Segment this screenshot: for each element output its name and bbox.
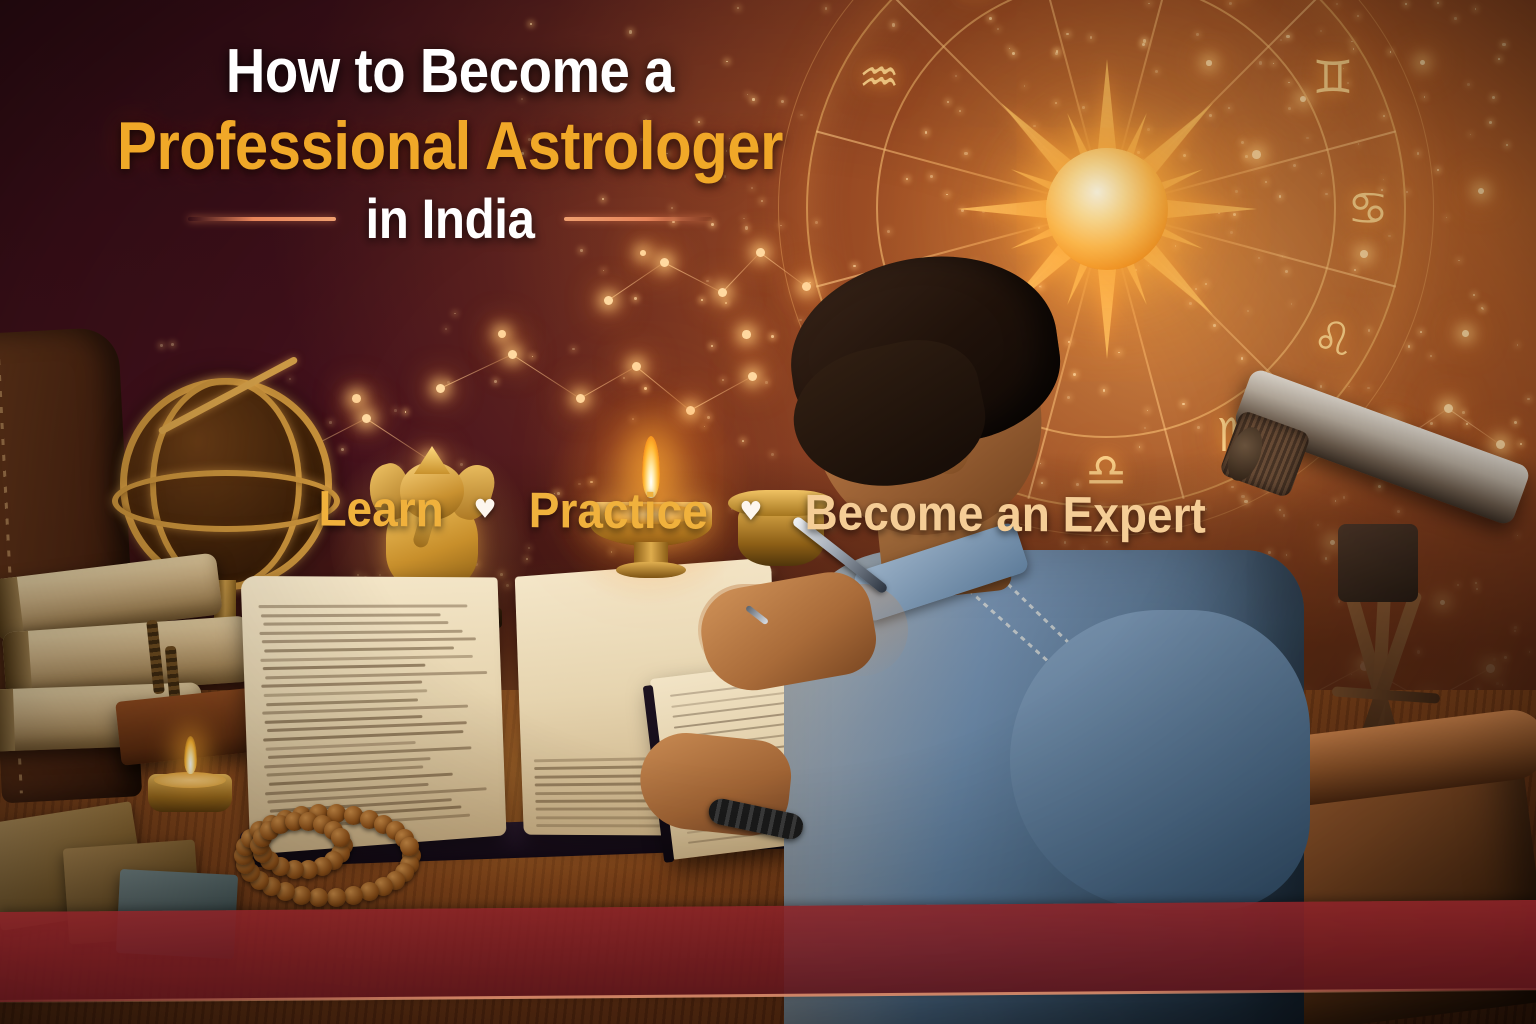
headline-line-3-row: in India <box>0 190 900 248</box>
headline-block: How to Become a Professional Astrologer … <box>0 40 900 248</box>
tagline-word-practice: Practice <box>528 481 707 540</box>
heart-separator-icon: ♥ <box>739 497 762 527</box>
poster-canvas: ♈♉♊♋♌♍♎♏♐♒♓ <box>0 0 1536 1024</box>
headline-line-1: How to Become a <box>54 40 846 104</box>
heart-separator-icon: ♥ <box>473 495 496 525</box>
headline-rule-right <box>564 217 712 221</box>
tagline-word-learn: Learn <box>319 479 444 538</box>
headline-rule-left <box>188 217 336 221</box>
tagline-banner <box>0 900 1536 1002</box>
headline-line-2: Professional Astrologer <box>54 110 846 183</box>
headline-line-3: in India <box>366 190 535 248</box>
tagline-word-become-an-expert: Become an Expert <box>804 483 1205 544</box>
star <box>1437 2 1439 4</box>
